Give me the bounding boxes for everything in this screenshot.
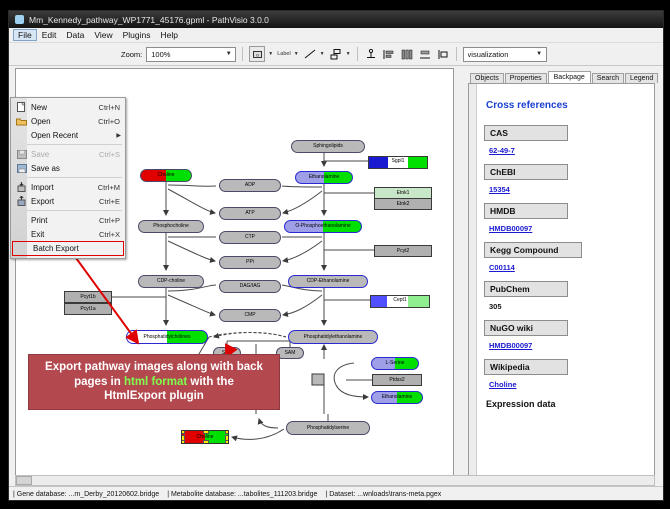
- node-sgpl1[interactable]: Sgpl1: [368, 156, 428, 169]
- node-pcyt1a[interactable]: Pcyt1a: [64, 303, 112, 315]
- xref-group-pubchem: PubChem 305: [484, 281, 648, 311]
- menu-edit[interactable]: Edit: [37, 29, 62, 41]
- menu-item-open-recent[interactable]: Open Recent ▶: [11, 128, 125, 142]
- backpage-content: Cross references CAS 62-49-7 ChEBI 15354…: [468, 83, 655, 480]
- xref-value-wikipedia[interactable]: Choline: [489, 380, 648, 389]
- xref-group-wikipedia: Wikipedia Choline: [484, 359, 648, 389]
- node-cdp-ethanolamine[interactable]: CDP-Ethanolamine: [288, 275, 368, 288]
- menu-item-save-label: Save: [28, 150, 99, 159]
- node-sgpl1-label: Sgpl1: [369, 158, 427, 164]
- menu-data[interactable]: Data: [61, 29, 89, 41]
- resize-handle-ne[interactable]: [225, 430, 229, 434]
- xref-group-hmdb: HMDB HMDB00097: [484, 203, 648, 233]
- node-choline-selected[interactable]: Choline: [181, 430, 229, 444]
- new-file-icon: [15, 102, 28, 113]
- save-disk-icon: [15, 149, 28, 160]
- status-metabolite-database: | Metabolite database: ...tabolites_1112…: [163, 491, 321, 498]
- resize-handle-nw[interactable]: [181, 430, 185, 434]
- xref-label-pubchem: PubChem: [484, 281, 568, 297]
- menu-help[interactable]: Help: [156, 29, 183, 41]
- statusbar: | Gene database: ...m_Derby_20120602.bri…: [9, 486, 663, 501]
- print-spacer: [15, 215, 28, 226]
- resize-handle-s[interactable]: [203, 440, 209, 444]
- label-dropdown-icon[interactable]: ▼: [294, 51, 299, 57]
- xref-value-cas[interactable]: 62-49-7: [489, 146, 648, 155]
- menu-item-batch-export-label: Batch Export: [30, 244, 119, 253]
- interaction-icon[interactable]: [329, 47, 343, 61]
- menu-item-import-shortcut: Ctrl+M: [98, 183, 121, 192]
- xref-label-wikipedia: Wikipedia: [484, 359, 568, 375]
- toolbar-separator-3: [456, 47, 457, 61]
- toolbar-separator: [242, 47, 243, 61]
- menu-item-save-as-label: Save as: [28, 164, 120, 173]
- status-dataset: | Dataset: ...wnloads\trans-meta.pgex: [321, 491, 445, 498]
- side-panel-tabs: Objects Properties Backpage Search Legen…: [462, 68, 656, 83]
- node-ctp[interactable]: CTP: [219, 231, 281, 244]
- annotation-callout: Export pathway images along with back pa…: [28, 354, 280, 410]
- node-l-serine[interactable]: L-Serine: [371, 357, 419, 370]
- backpage-inner: Cross references CAS 62-49-7 ChEBI 15354…: [478, 84, 654, 479]
- menu-item-print-shortcut: Ctrl+P: [99, 216, 121, 225]
- visualization-value: visualization: [468, 50, 535, 59]
- backpage-scrollbar[interactable]: [469, 84, 477, 479]
- resize-handle-n[interactable]: [203, 430, 209, 434]
- xref-value-nugo[interactable]: HMDB00097: [489, 341, 648, 350]
- annotation-line-3: HtmlExport plugin: [104, 390, 204, 402]
- window-titlebar: Mm_Kennedy_pathway_WP1771_45176.gpml - P…: [9, 11, 663, 28]
- menu-item-save-as[interactable]: Save as: [11, 161, 125, 175]
- open-recent-spacer: [15, 130, 28, 141]
- menu-item-print[interactable]: Print Ctrl+P: [11, 213, 125, 227]
- xref-value-hmdb[interactable]: HMDB00097: [489, 224, 648, 233]
- window-body: Sphingolipids Choline ADP Ethanolamine A…: [9, 66, 663, 501]
- node-phosphatidylethanolamine[interactable]: Phosphatidylethanolamine: [288, 330, 378, 344]
- xref-group-nugo: NuGO wiki HMDB00097: [484, 320, 648, 350]
- exit-spacer: [15, 229, 28, 240]
- menu-file[interactable]: File: [13, 29, 37, 41]
- xref-label-chebi: ChEBI: [484, 164, 568, 180]
- menu-item-open-label: Open: [28, 117, 98, 126]
- pathvisio-window: Mm_Kennedy_pathway_WP1771_45176.gpml - P…: [8, 10, 664, 501]
- menu-item-export[interactable]: Export Ctrl+E: [11, 194, 125, 208]
- node-cept1[interactable]: Cept1: [370, 295, 430, 308]
- tab-objects[interactable]: Objects: [470, 73, 504, 83]
- node-sphingolipids[interactable]: Sphingolipids: [291, 140, 365, 153]
- menu-item-exit-label: Exit: [28, 230, 99, 239]
- node-choline[interactable]: Choline: [140, 169, 192, 182]
- node-etnk2[interactable]: Etnk2: [374, 198, 432, 210]
- node-ethanolamine-2[interactable]: Ethanolamine: [371, 391, 423, 404]
- zoom-value: 100%: [151, 50, 224, 59]
- open-folder-icon: [15, 116, 28, 127]
- group-box: [312, 374, 324, 385]
- xref-group-kegg: Kegg Compound C00114: [484, 242, 648, 272]
- toolbar: Zoom: 100% ▼ G ▼ Label ▼ ▼ ▼: [9, 43, 663, 66]
- menu-item-exit-shortcut: Ctrl+X: [99, 230, 121, 239]
- menu-item-import[interactable]: Import Ctrl+M: [11, 180, 125, 194]
- node-phosphocholine[interactable]: Phosphocholine: [138, 220, 204, 233]
- visualization-combo[interactable]: visualization ▼: [463, 47, 547, 62]
- menu-item-open-recent-label: Open Recent: [28, 131, 116, 140]
- xref-label-cas: CAS: [484, 125, 568, 141]
- line-dropdown-icon[interactable]: ▼: [320, 51, 325, 57]
- menu-item-save: Save Ctrl+S: [11, 147, 125, 161]
- menu-item-open[interactable]: Open Ctrl+O: [11, 114, 125, 128]
- menu-item-import-label: Import: [28, 183, 98, 192]
- xref-value-chebi[interactable]: 15354: [489, 185, 648, 194]
- file-menu-dropdown[interactable]: New Ctrl+N Open Ctrl+O Open Recent ▶: [10, 97, 126, 259]
- line-icon[interactable]: [303, 47, 317, 61]
- node-ethanolamine[interactable]: Ethanolamine: [295, 171, 353, 184]
- menu-divider-3: [14, 210, 122, 211]
- pathvisio-icon: [15, 15, 24, 24]
- xref-label-hmdb: HMDB: [484, 203, 568, 219]
- canvas-hscroll-thumb[interactable]: [16, 476, 32, 485]
- node-pcyt2[interactable]: Pcyt2: [374, 245, 432, 257]
- node-cept1-label: Cept1: [371, 297, 429, 303]
- menu-item-new-shortcut: Ctrl+N: [99, 103, 121, 112]
- screenshot-root: Mm_Kennedy_pathway_WP1771_45176.gpml - P…: [0, 0, 670, 509]
- xref-group-cas: CAS 62-49-7: [484, 125, 648, 155]
- tab-properties[interactable]: Properties: [505, 73, 547, 83]
- annotation-highlight: html format: [124, 376, 187, 388]
- datanode-icon[interactable]: G: [249, 46, 265, 62]
- node-phosphatidylserine[interactable]: Phosphatidylserine: [286, 421, 370, 435]
- annotation-line-2a: pages in: [74, 376, 124, 388]
- menu-item-save-shortcut: Ctrl+S: [99, 150, 121, 159]
- node-cdp-choline[interactable]: CDP-choline: [138, 275, 204, 288]
- menubar: File Edit Data View Plugins Help: [9, 28, 663, 43]
- stack-icon[interactable]: [418, 47, 432, 61]
- menu-item-open-shortcut: Ctrl+O: [98, 117, 121, 126]
- node-atp[interactable]: ATP: [219, 207, 281, 220]
- batch-export-spacer: [17, 243, 30, 254]
- zoom-combo[interactable]: 100% ▼: [146, 47, 236, 62]
- zoom-label: Zoom:: [121, 50, 142, 59]
- menu-view[interactable]: View: [89, 29, 117, 41]
- xref-value-kegg[interactable]: C00114: [489, 263, 648, 272]
- node-phosphatidylcholines[interactable]: Phosphatidylcholines: [126, 330, 208, 344]
- chevron-down-icon: ▼: [224, 51, 233, 57]
- annotation-line-2c: with the: [187, 376, 234, 388]
- canvas-hscrollbar[interactable]: [15, 475, 655, 486]
- menu-item-new-label: New: [28, 103, 99, 112]
- node-dag-iag[interactable]: DAG/IAG: [219, 280, 281, 293]
- xref-group-chebi: ChEBI 15354: [484, 164, 648, 194]
- side-panel: Objects Properties Backpage Search Legen…: [462, 68, 656, 480]
- node-ppi[interactable]: PPi: [219, 256, 281, 269]
- expression-data-heading: Expression data: [486, 399, 648, 409]
- menu-item-exit[interactable]: Exit Ctrl+X: [11, 227, 125, 241]
- align-left-icon[interactable]: [382, 47, 396, 61]
- chevron-down-icon-2: ▼: [535, 51, 544, 57]
- resize-handle-sw[interactable]: [181, 440, 185, 444]
- tab-backpage[interactable]: Backpage: [548, 71, 591, 83]
- node-sam[interactable]: SAM: [276, 347, 304, 359]
- menu-item-export-shortcut: Ctrl+E: [99, 197, 121, 206]
- label-tool-label[interactable]: Label: [277, 51, 290, 57]
- xref-label-kegg: Kegg Compound: [484, 242, 582, 258]
- svg-text:G: G: [256, 52, 259, 57]
- menu-divider-2: [14, 177, 122, 178]
- submenu-arrow-icon: ▶: [116, 132, 121, 139]
- toolbar-separator-2: [357, 47, 358, 61]
- resize-handle-se[interactable]: [225, 440, 229, 444]
- menu-item-new[interactable]: New Ctrl+N: [11, 100, 125, 114]
- tab-search[interactable]: Search: [592, 73, 624, 83]
- xref-label-nugo: NuGO wiki: [484, 320, 568, 336]
- node-adp[interactable]: ADP: [219, 179, 281, 192]
- node-o-phosphoethanolamine[interactable]: O-Phosphoethanolamine: [284, 220, 362, 233]
- datanode-dropdown-icon[interactable]: ▼: [268, 51, 273, 57]
- interaction-dropdown-icon[interactable]: ▼: [346, 51, 351, 57]
- cross-references-title: Cross references: [486, 100, 648, 111]
- node-ptdss2[interactable]: Ptdss2: [372, 374, 422, 386]
- menu-item-batch-export[interactable]: Batch Export: [12, 241, 124, 256]
- import-icon: [15, 182, 28, 193]
- menu-divider-1: [14, 144, 122, 145]
- align-center-icon[interactable]: [400, 47, 414, 61]
- menu-plugins[interactable]: Plugins: [118, 29, 156, 41]
- menu-item-print-label: Print: [28, 216, 99, 225]
- anchor-icon[interactable]: [364, 47, 378, 61]
- tab-legend[interactable]: Legend: [625, 73, 658, 83]
- group-icon[interactable]: [436, 47, 450, 61]
- menu-item-export-label: Export: [28, 197, 99, 206]
- xref-value-pubchem: 305: [489, 302, 648, 311]
- annotation-line-1: Export pathway images along with back: [45, 361, 263, 373]
- export-icon: [15, 196, 28, 207]
- node-choline-selected-label: Choline: [197, 435, 214, 440]
- node-pcyt1b[interactable]: Pcyt1b: [64, 291, 112, 303]
- save-as-icon: [15, 163, 28, 174]
- window-title: Mm_Kennedy_pathway_WP1771_45176.gpml - P…: [29, 15, 269, 25]
- node-cmp[interactable]: CMP: [219, 309, 281, 322]
- status-gene-database: | Gene database: ...m_Derby_20120602.bri…: [9, 491, 163, 498]
